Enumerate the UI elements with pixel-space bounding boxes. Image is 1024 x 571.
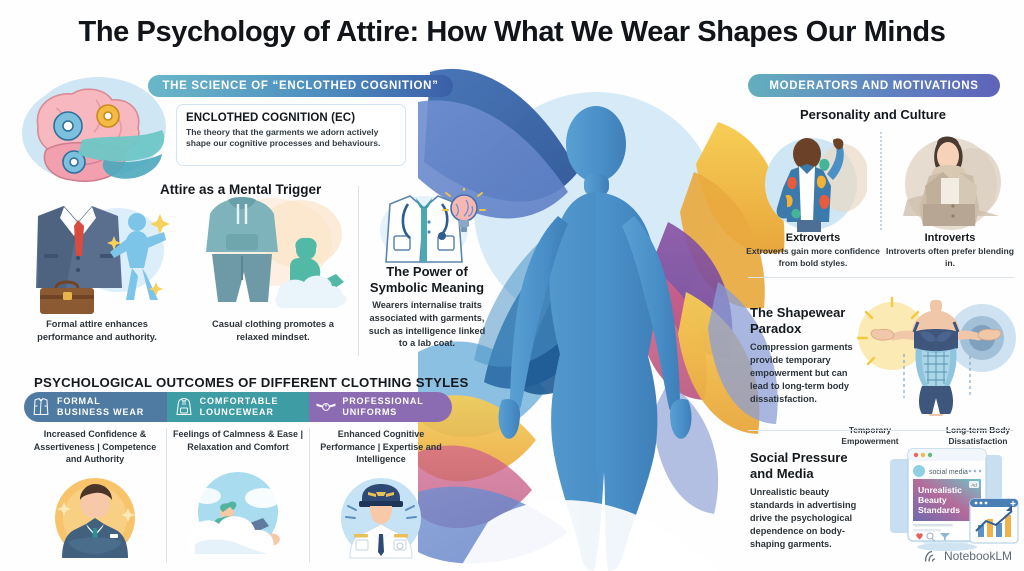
outcomes-table-header: FORMALBUSINESS WEAR COMFORTABLELOUNCEWEA… xyxy=(24,392,452,422)
social-pressure-block: Social Pressure and Media Unrealistic be… xyxy=(750,450,870,551)
business-suit-briefcase-icon xyxy=(22,196,174,314)
svg-text:Unrealistic: Unrealistic xyxy=(918,485,962,495)
heading-personality-culture: Personality and Culture xyxy=(800,107,946,122)
shapewear-figure-icon xyxy=(848,296,1024,416)
outcomes-col-uniform-header[interactable]: PROFESSIONALUNIFORMS xyxy=(309,392,452,422)
symbolic-meaning-body: Wearers internalise traits associated wi… xyxy=(366,299,488,350)
shapewear-paradox-block: The Shapewear Paradox Compression garmen… xyxy=(750,305,862,406)
introverts-body: Introverts often prefer blending in. xyxy=(885,246,1015,269)
section-header-moderators-label: MODERATORS AND MOTIVATIONS xyxy=(769,80,978,92)
person-relaxing-on-cloud-icon xyxy=(167,472,309,560)
caption-formal-attire: Formal attire enhances performance and a… xyxy=(22,318,172,344)
outcomes-cell-uniform-text: Enhanced Cognitive Performance | Experti… xyxy=(310,428,452,466)
pilot-wings-badge-icon xyxy=(316,397,336,417)
social-pressure-title: Social Pressure and Media xyxy=(750,450,870,481)
caption-casual-clothing: Casual clothing promotes a relaxed minds… xyxy=(198,318,348,344)
confident-businessman-icon xyxy=(24,472,166,560)
hoodie-icon xyxy=(174,397,194,417)
divider-personality xyxy=(880,132,882,230)
extrovert-bold-jacket-icon xyxy=(755,130,867,234)
infographic-canvas: The Psychology of Attire: How What We We… xyxy=(0,0,1024,571)
introverts-title: Introverts xyxy=(885,232,1015,244)
personality-extroverts: Extroverts Extroverts gain more confiden… xyxy=(745,232,881,269)
svg-text:Standards: Standards xyxy=(918,505,960,515)
personality-introverts: Introverts Introverts often prefer blend… xyxy=(885,232,1015,269)
extroverts-title: Extroverts xyxy=(745,232,881,244)
brain-gears-icon xyxy=(12,78,182,193)
divider-right-1 xyxy=(748,277,1014,278)
svg-text:Beauty: Beauty xyxy=(918,495,947,505)
social-pressure-body: Unrealistic beauty standards in advertis… xyxy=(750,486,870,550)
outcomes-col-formal-header[interactable]: FORMALBUSINESS WEAR xyxy=(24,392,167,422)
outcomes-col-formal-label: FORMALBUSINESS WEAR xyxy=(57,396,144,418)
shapewear-title: The Shapewear Paradox xyxy=(750,305,862,336)
social-app-name: social media xyxy=(929,469,968,476)
ec-card-body: The theory that the garments we adorn ac… xyxy=(186,127,396,150)
outcomes-cell-lounge-text: Feelings of Calmness & Ease | Relaxation… xyxy=(167,428,309,453)
outcomes-cell-formal: Increased Confidence & Assertiveness | C… xyxy=(24,428,166,563)
outcomes-col-uniform-label: PROFESSIONALUNIFORMS xyxy=(342,396,423,418)
svg-text:Ad: Ad xyxy=(971,483,977,488)
outcomes-col-lounge-label: COMFORTABLELOUNCEWEAR xyxy=(200,396,279,418)
section-header-science-label: THE SCIENCE OF “ENCLOTHED COGNITION” xyxy=(162,80,438,92)
section-header-science: THE SCIENCE OF “ENCLOTHED COGNITION” xyxy=(148,75,453,97)
social-media-browser-icon: social media Ad Unrealistic Beauty Stand… xyxy=(872,445,1024,555)
divider-symbolic xyxy=(358,186,359,356)
pilot-in-uniform-icon xyxy=(310,472,452,560)
outcomes-col-lounge-header[interactable]: COMFORTABLELOUNCEWEAR xyxy=(167,392,310,422)
hoodie-sweatpants-relaxing-icon xyxy=(190,190,358,314)
heading-psychological-outcomes: PSYCHOLOGICAL OUTCOMES OF DIFFERENT CLOT… xyxy=(34,375,469,390)
outcomes-cell-formal-text: Increased Confidence & Assertiveness | C… xyxy=(24,428,166,466)
outcomes-cell-lounge: Feelings of Calmness & Ease | Relaxation… xyxy=(166,428,309,563)
notebooklm-watermark: NotebookLM xyxy=(924,549,1012,563)
symbolic-meaning-block: The Power of Symbolic Meaning Wearers in… xyxy=(366,264,488,350)
symbolic-meaning-title: The Power of Symbolic Meaning xyxy=(366,264,488,295)
shapewear-label-temporary: Temporary Empowerment xyxy=(828,425,912,447)
shapewear-body: Compression garments provide temporary e… xyxy=(750,341,862,405)
shapewear-label-longterm: Long-term Body Dissatisfaction xyxy=(932,425,1024,447)
extroverts-body: Extroverts gain more confidence from bol… xyxy=(745,246,881,269)
lab-coat-brain-bulb-icon xyxy=(372,188,486,266)
outcomes-cell-uniform: Enhanced Cognitive Performance | Experti… xyxy=(309,428,452,563)
ec-card-title: ENCLOTHED COGNITION (EC) xyxy=(186,112,396,124)
divider-right-2 xyxy=(748,430,1014,431)
notebooklm-logo-icon xyxy=(924,550,939,563)
enclothed-cognition-card: ENCLOTHED COGNITION (EC) The theory that… xyxy=(176,104,406,166)
page-title: The Psychology of Attire: How What We We… xyxy=(0,16,1024,49)
introvert-neutral-coat-icon xyxy=(895,130,1007,234)
notebooklm-label: NotebookLM xyxy=(944,549,1012,563)
section-header-moderators: MODERATORS AND MOTIVATIONS xyxy=(748,74,1000,97)
suit-jacket-icon xyxy=(31,397,51,417)
outcomes-table-body: Increased Confidence & Assertiveness | C… xyxy=(24,428,452,563)
